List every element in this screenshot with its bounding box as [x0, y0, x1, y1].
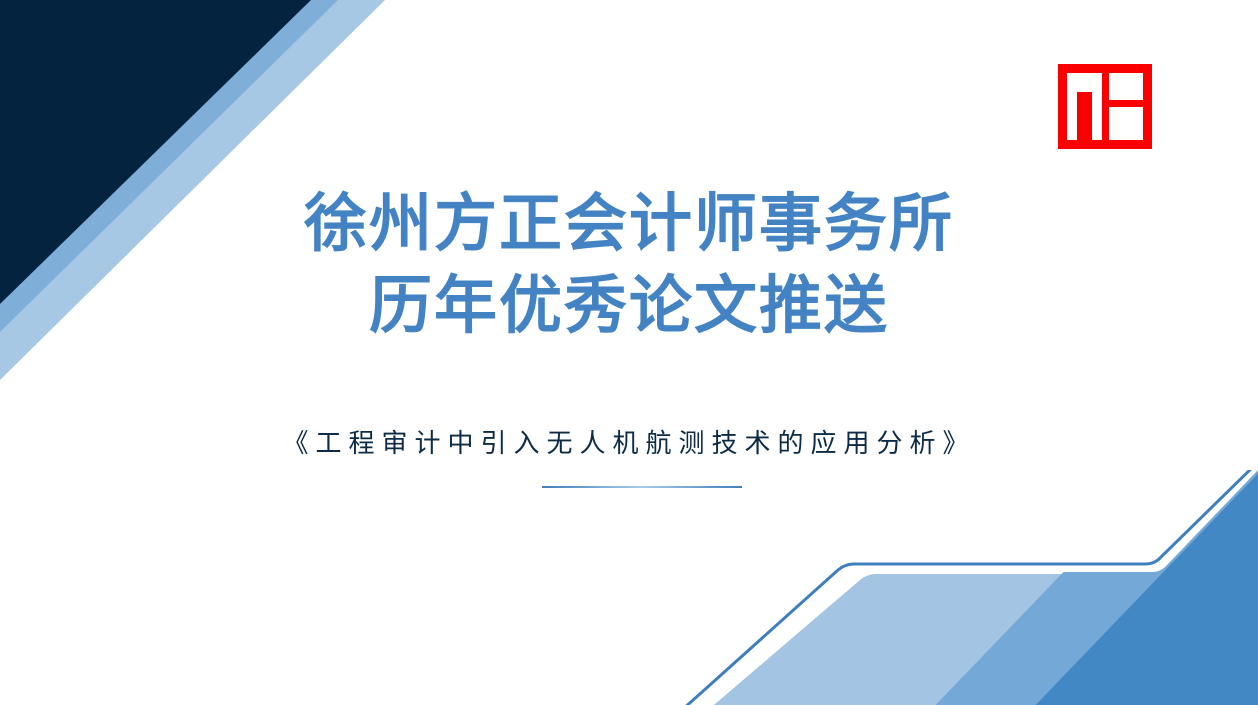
logo-right-bottom-block — [1109, 107, 1143, 140]
subtitle-divider — [542, 486, 742, 488]
subtitle-text: 《工程审计中引入无人机航测技术的应用分析》 — [282, 428, 975, 458]
page-title: 徐州方正会计师事务所 历年优秀论文推送 — [0, 186, 1258, 344]
decor-dark-blue-band-bottom — [1026, 470, 1258, 705]
subtitle: 《工程审计中引入无人机航测技术的应用分析》 — [0, 424, 1258, 462]
title-line-2: 历年优秀论文推送 — [0, 268, 1258, 344]
decor-light-blue-body — [708, 470, 1258, 705]
presentation-slide: 徐州方正会计师事务所 历年优秀论文推送 《工程审计中引入无人机航测技术的应用分析… — [0, 0, 1258, 705]
decor-outline-shape — [682, 470, 1258, 705]
decor-medium-blue-band-bottom — [926, 470, 1258, 705]
company-logo — [1058, 64, 1152, 149]
logo-right-top-block — [1109, 73, 1143, 100]
bottom-right-ribbon-decoration — [560, 470, 1258, 705]
title-line-1: 徐州方正会计师事务所 — [0, 186, 1258, 262]
decor-diagonal-band-group — [926, 470, 1258, 705]
